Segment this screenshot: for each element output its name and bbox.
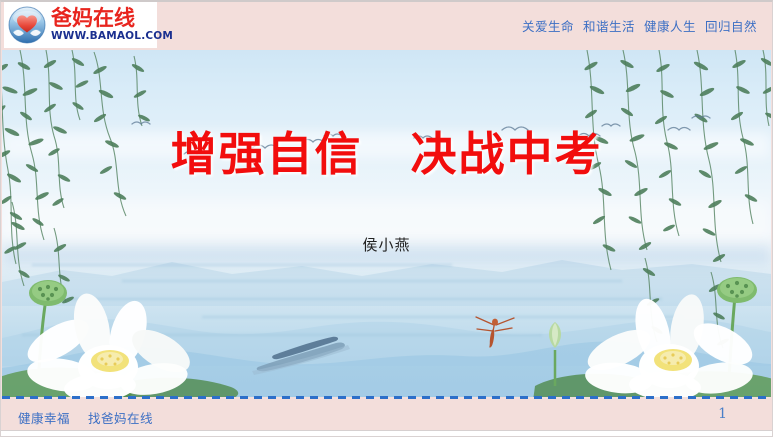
page-title: 增强自信 决战中考 (0, 118, 773, 184)
footer-slogan: 健康幸福 找爸妈在线 (18, 408, 153, 427)
footer-slogan-part1: 健康幸福 (18, 411, 70, 426)
footer-slogan-part2: 找爸妈在线 (88, 411, 153, 426)
brand-url: WWW.BAMAOL.COM (51, 30, 173, 43)
dragonfly-icon (472, 311, 518, 355)
slide-background-image (2, 50, 771, 397)
page-number: 1 (718, 406, 727, 422)
header-tagline: 关爱生命 和谐生活 健康人生 回归自然 (522, 0, 757, 50)
boat-icon (252, 325, 362, 375)
tagline-item-2: 和谐生活 (583, 16, 635, 35)
lotus-flower-icon (533, 266, 771, 397)
header-bar: 爸妈在线 WWW.BAMAOL.COM 关爱生命 和谐生活 健康人生 回归自然 (0, 0, 773, 50)
tagline-item-1: 关爱生命 (522, 16, 574, 35)
presenter-name: 侯小燕 (0, 234, 773, 255)
footer-bottom-rule (0, 430, 773, 437)
tagline-item-3: 健康人生 (644, 16, 696, 35)
brand-logo[interactable]: 爸妈在线 WWW.BAMAOL.COM (4, 2, 157, 48)
heart-in-hands-icon (8, 6, 46, 44)
tagline-item-4: 回归自然 (705, 16, 757, 35)
lotus-flower-icon (2, 271, 246, 397)
slide: 增强自信 决战中考 侯小燕 (0, 0, 773, 437)
brand-name-cn: 爸妈在线 (51, 7, 173, 29)
footer-bar: 健康幸福 找爸妈在线 1 (0, 399, 773, 437)
